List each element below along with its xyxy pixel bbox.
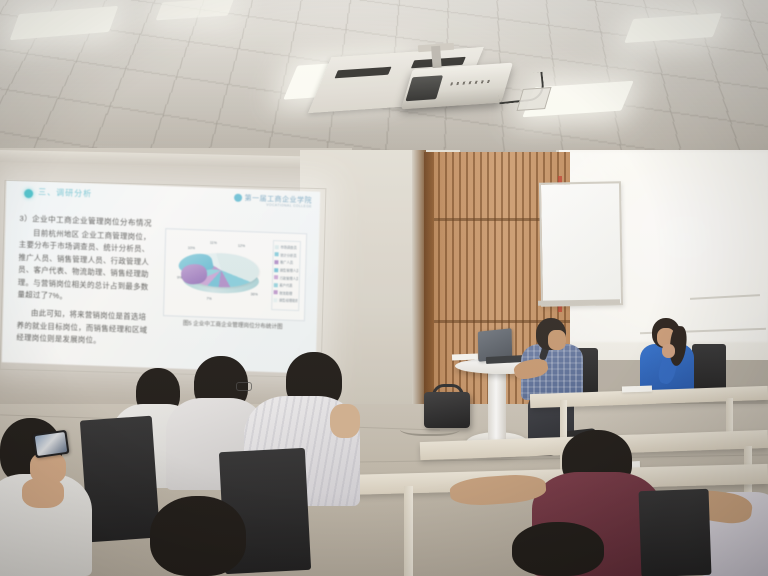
- paper-sheet: [622, 385, 652, 392]
- power-cord: [400, 420, 460, 436]
- chair-backrest: [639, 489, 712, 576]
- panelist-hand: [662, 344, 675, 358]
- vent-slot: [335, 67, 392, 79]
- wood-panel-edge: [424, 152, 434, 420]
- whiteboard: [539, 181, 623, 306]
- ceiling-projector: [401, 63, 513, 110]
- glasses-icon: [236, 382, 252, 391]
- desk-leg: [404, 486, 413, 576]
- screen-border: [0, 180, 326, 378]
- projector-lens-icon: [405, 75, 443, 101]
- paper-sheet: [452, 354, 478, 361]
- pedestal-table-stem: [488, 368, 506, 440]
- projector-vent-grill: [450, 80, 492, 86]
- attendee-hand: [22, 478, 64, 508]
- attendee-arm: [330, 404, 360, 438]
- attendee-head: [512, 522, 604, 576]
- office-chair: [692, 344, 726, 392]
- attendee-head: [150, 496, 246, 576]
- presenter-face: [548, 330, 566, 350]
- phone-screen-preview: [35, 432, 67, 456]
- smartphone[interactable]: [32, 430, 69, 458]
- screenshot-root: 三、调研分析 第一届工商企业学院 VOCATIONAL COLLEGE 3）企业…: [0, 0, 768, 576]
